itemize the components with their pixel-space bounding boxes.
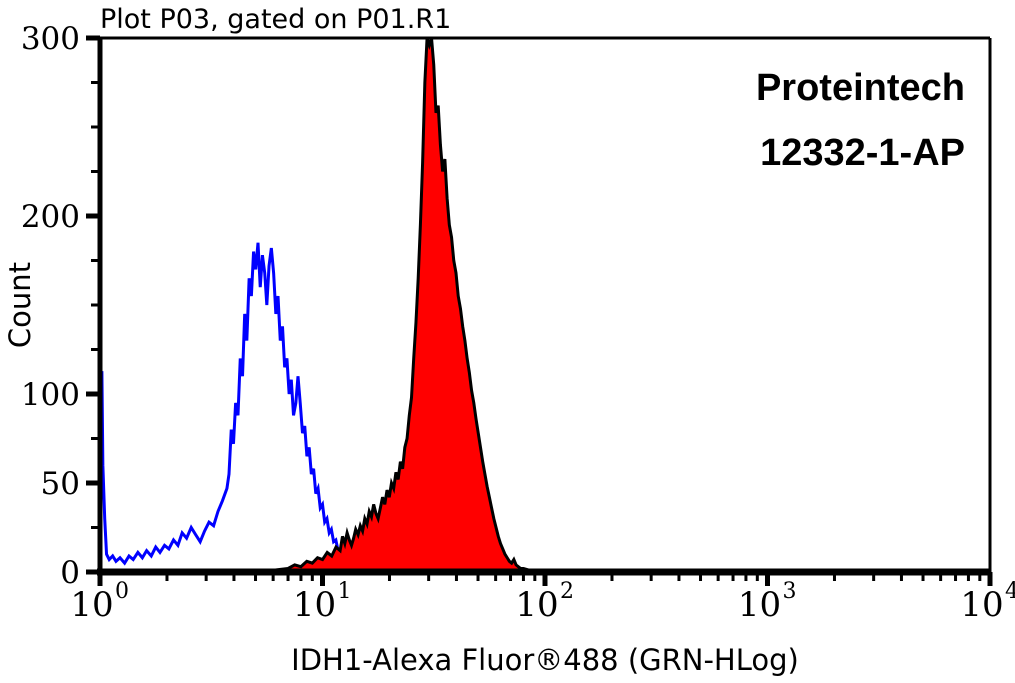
x-tick-exponent: 0: [115, 579, 129, 604]
flow-cytometry-figure: 100101102103104050100200300 Plot P03, ga…: [0, 0, 1015, 683]
x-tick-exponent: 3: [783, 579, 797, 604]
x-tick-mantissa: 10: [293, 585, 336, 625]
plot-title: Plot P03, gated on P01.R1: [100, 4, 451, 35]
x-tick-mantissa: 10: [738, 585, 781, 625]
x-tick-mantissa: 10: [960, 585, 1003, 625]
watermark-catalog-number: 12332-1-AP: [760, 132, 965, 174]
watermark-brand: Proteintech: [756, 67, 965, 109]
x-tick-exponent: 4: [1005, 579, 1015, 604]
y-tick-label: 200: [21, 199, 80, 235]
x-tick-mantissa: 10: [70, 585, 113, 625]
y-axis-label: Count: [3, 262, 37, 348]
x-axis-label: IDH1-Alexa Fluor®488 (GRN-HLog): [291, 643, 799, 677]
x-tick-exponent: 2: [560, 579, 574, 604]
x-tick-group: 100101102103104: [70, 572, 1015, 625]
x-tick-label: 103: [738, 579, 797, 625]
histogram-plot: 100101102103104050100200300 Plot P03, ga…: [0, 0, 1015, 683]
x-tick-label: 102: [515, 579, 574, 625]
y-tick-label: 0: [60, 555, 80, 591]
y-tick-label: 100: [21, 377, 80, 413]
plot-background: [100, 38, 990, 572]
x-tick-mantissa: 10: [515, 585, 558, 625]
x-tick-label: 104: [960, 579, 1015, 625]
x-tick-label: 101: [293, 579, 352, 625]
x-tick-exponent: 1: [338, 579, 352, 604]
y-tick-label: 300: [21, 21, 80, 57]
y-tick-label: 50: [41, 466, 80, 502]
